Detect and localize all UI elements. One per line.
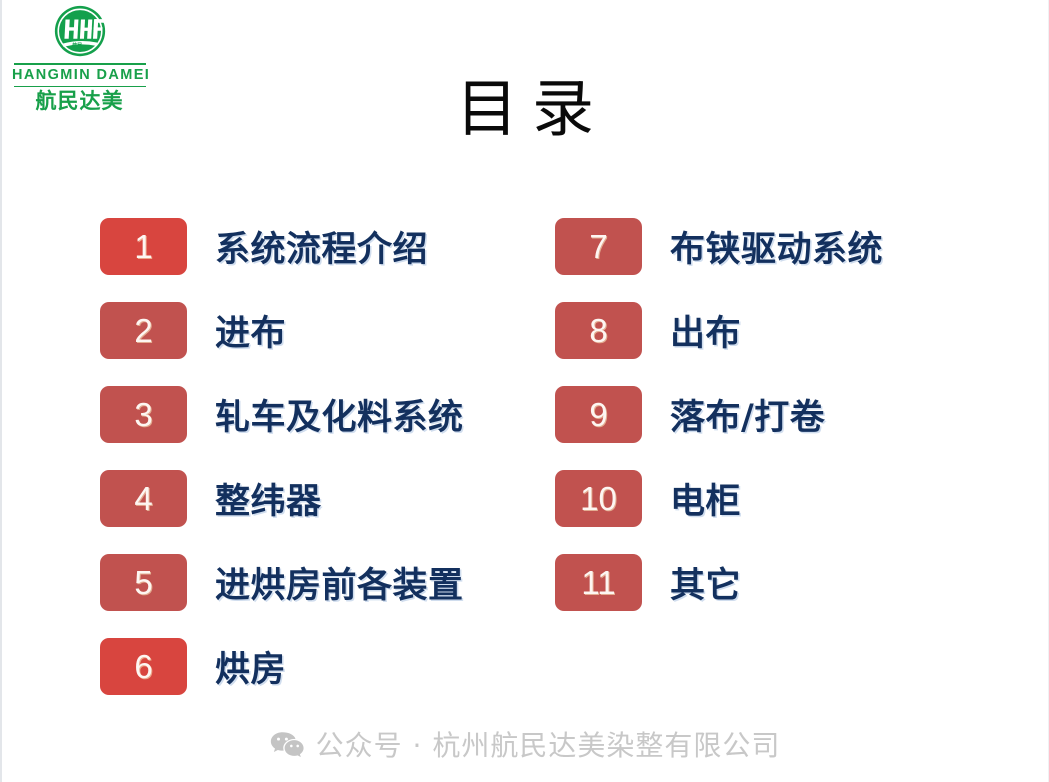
toc-item-4[interactable]: 4 整纬器 — [100, 470, 540, 527]
toc-item-1[interactable]: 1 系统流程介绍 — [100, 218, 540, 275]
toc-item-7[interactable]: 7 布铗驱动系统 — [555, 218, 995, 275]
toc-item-label: 系统流程介绍 — [215, 221, 428, 272]
toc-item-11[interactable]: 11 其它 — [555, 554, 995, 611]
toc-item-5[interactable]: 5 进烘房前各装置 — [100, 554, 540, 611]
toc-item-label: 进布 — [215, 305, 286, 356]
toc-column-left: 1 系统流程介绍 2 进布 3 轧车及化料系统 4 整纬器 5 进烘房前各装置 … — [100, 218, 540, 722]
toc-item-label: 整纬器 — [215, 473, 322, 524]
toc-number-badge: 8 — [555, 302, 642, 359]
toc-item-10[interactable]: 10 电柜 — [555, 470, 995, 527]
toc-number-badge: 7 — [555, 218, 642, 275]
toc-column-right: 7 布铗驱动系统 8 出布 9 落布/打卷 10 电柜 11 其它 — [555, 218, 995, 638]
toc-item-8[interactable]: 8 出布 — [555, 302, 995, 359]
page-title: 目录 — [2, 58, 1048, 148]
toc-item-label: 烘房 — [215, 641, 286, 692]
toc-item-9[interactable]: 9 落布/打卷 — [555, 386, 995, 443]
toc-number-badge: 1 — [100, 218, 187, 275]
footer-watermark-text: 公众号 · 杭州航民达美染整有限公司 — [316, 724, 781, 764]
toc-item-3[interactable]: 3 轧车及化料系统 — [100, 386, 540, 443]
toc-item-label: 其它 — [670, 557, 741, 608]
toc-item-label: 进烘房前各装置 — [215, 557, 464, 608]
toc-item-label: 布铗驱动系统 — [670, 221, 883, 272]
hangmin-damei-circular-emblem-icon: 航民 — [49, 4, 111, 62]
toc-number-badge: 2 — [100, 302, 187, 359]
toc-number-badge: 3 — [100, 386, 187, 443]
toc-item-label: 电柜 — [670, 473, 741, 524]
wechat-icon — [270, 731, 304, 757]
toc-number-badge: 4 — [100, 470, 187, 527]
table-of-contents: 1 系统流程介绍 2 进布 3 轧车及化料系统 4 整纬器 5 进烘房前各装置 … — [2, 218, 1049, 688]
toc-item-label: 落布/打卷 — [670, 389, 825, 440]
toc-item-2[interactable]: 2 进布 — [100, 302, 540, 359]
footer-watermark: 公众号 · 杭州航民达美染整有限公司 — [2, 724, 1048, 764]
toc-item-label: 出布 — [670, 305, 741, 356]
presentation-slide: 航民 HANGMIN DAMEI 航民达美 目录 1 系统流程介绍 2 进布 3… — [0, 0, 1049, 782]
svg-text:航民: 航民 — [72, 42, 82, 49]
toc-number-badge: 6 — [100, 638, 187, 695]
toc-number-badge: 9 — [555, 386, 642, 443]
toc-number-badge: 5 — [100, 554, 187, 611]
toc-number-badge: 11 — [555, 554, 642, 611]
toc-item-label: 轧车及化料系统 — [215, 389, 464, 440]
toc-item-6[interactable]: 6 烘房 — [100, 638, 540, 695]
toc-number-badge: 10 — [555, 470, 642, 527]
